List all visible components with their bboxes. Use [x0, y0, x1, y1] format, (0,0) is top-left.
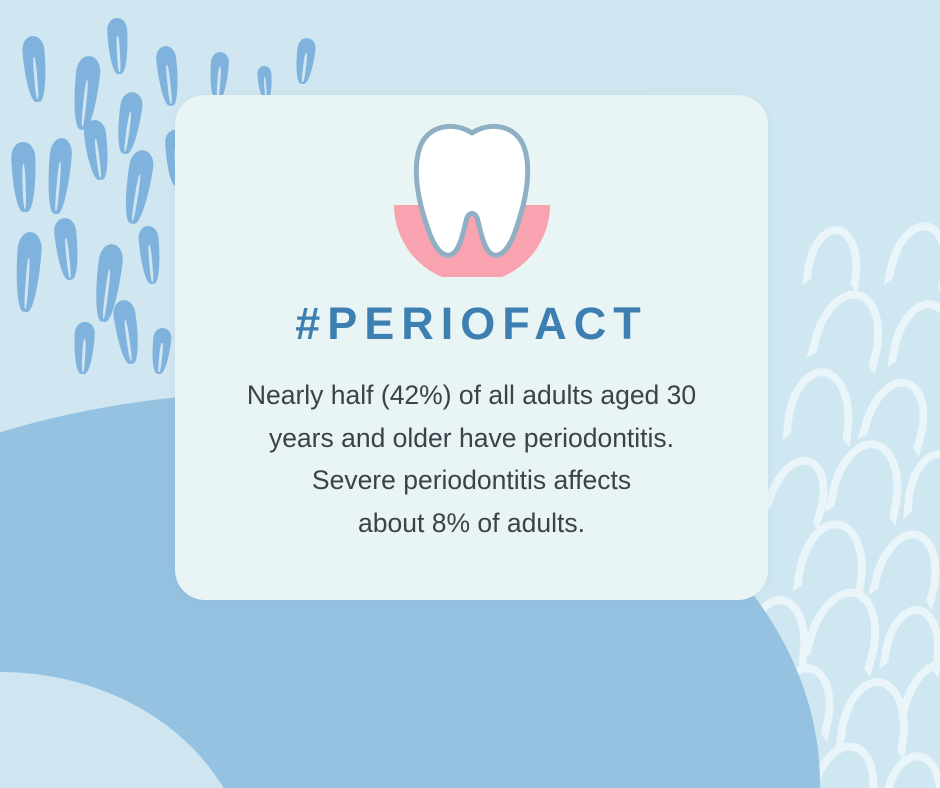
page-title: #PERIOFACT — [295, 301, 648, 346]
fact-body-line: Nearly half (42%) of all adults aged 30 — [207, 374, 737, 417]
fact-body-line: years and older have periodontitis. — [207, 417, 737, 460]
fact-body-line: Severe periodontitis affects — [207, 459, 737, 502]
fact-card: #PERIOFACT Nearly half (42%) of all adul… — [175, 95, 768, 600]
fact-body-text: Nearly half (42%) of all adults aged 30 … — [207, 374, 737, 545]
tooth-icon — [384, 117, 560, 277]
tooth-illustration — [384, 117, 560, 277]
fact-body-line: about 8% of adults. — [207, 502, 737, 545]
poster-canvas: #PERIOFACT Nearly half (42%) of all adul… — [0, 0, 940, 788]
